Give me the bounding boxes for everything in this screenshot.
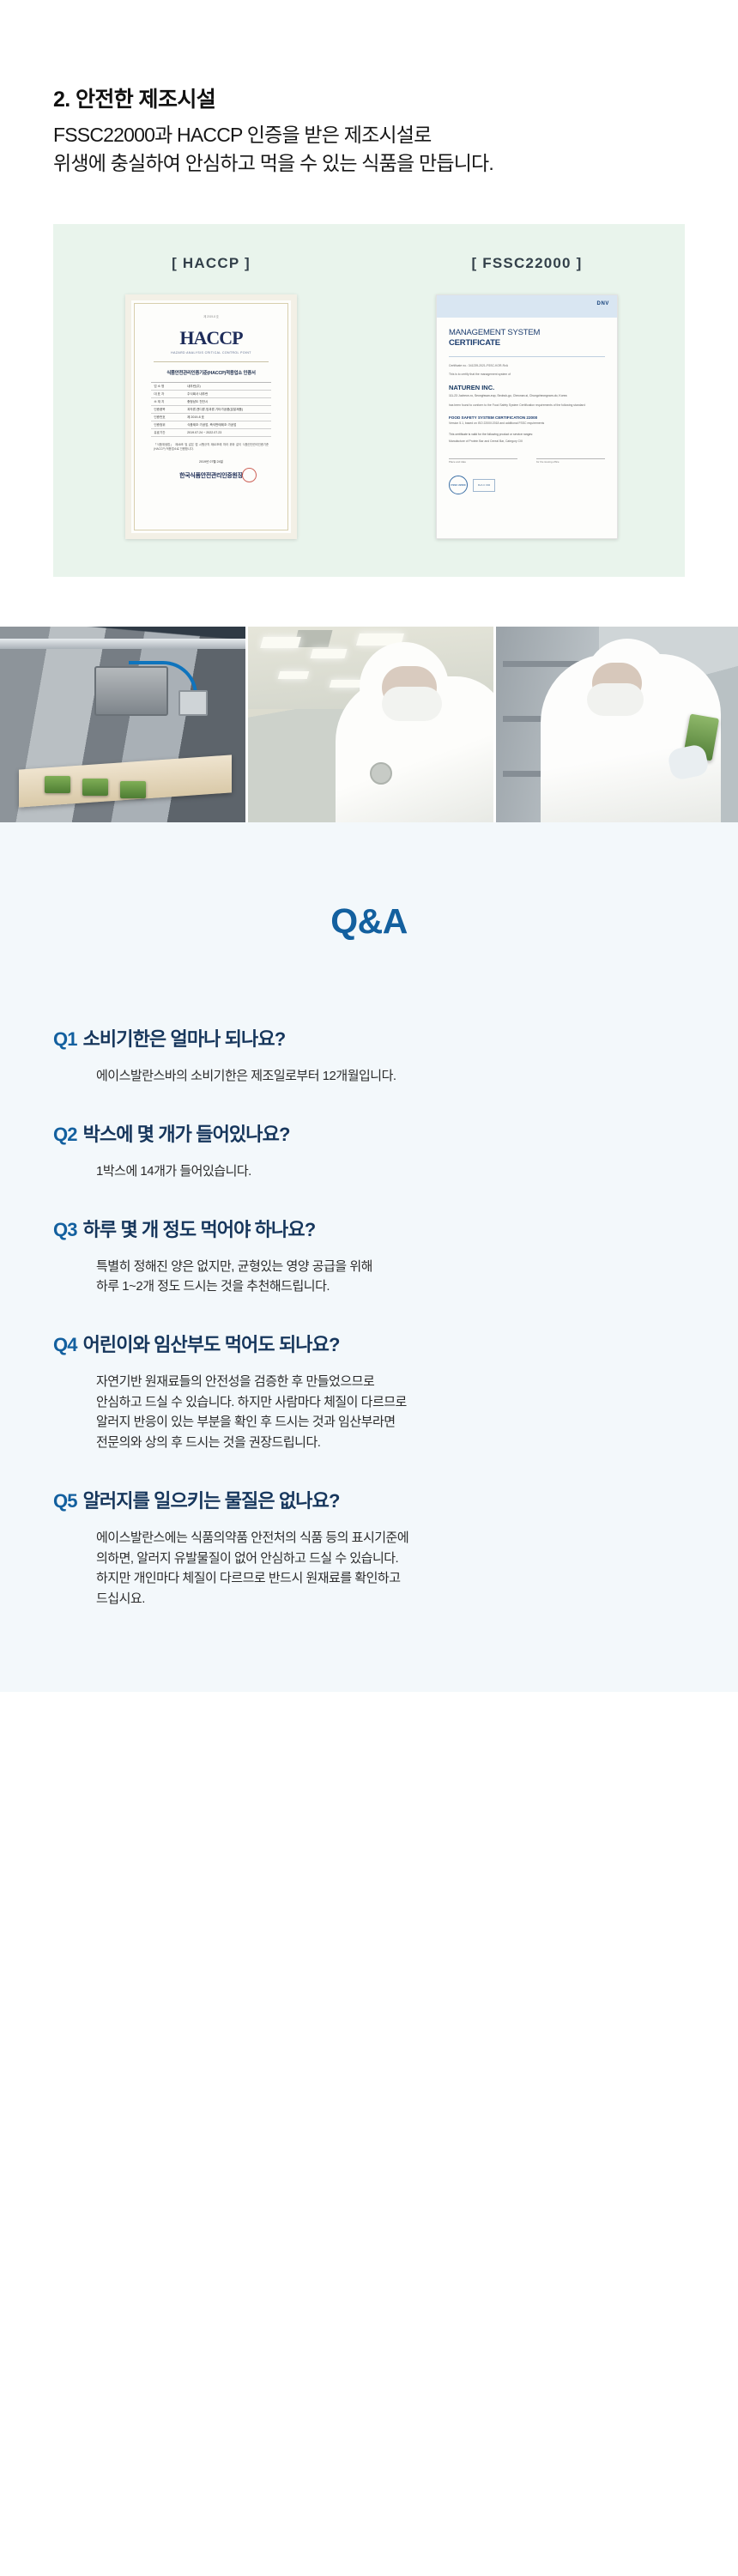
row-value: 식품제조·가공업, 즉석판매제조·가공업 — [187, 423, 271, 427]
worker-mask — [382, 687, 442, 721]
qa-answer: 에이스발란스에는 식품의약품 안전처의 식품 등의 표시기준에 의하면, 알러지… — [53, 1528, 685, 1609]
intro-section: 2. 안전한 제조시설 FSSC22000과 HACCP 인증을 받은 제조시설… — [0, 0, 738, 177]
qa-section: Q&A Q1소비기한은 얼마나 되나요? 에이스발란스바의 소비기한은 제조일로… — [0, 822, 738, 1691]
qa-item: Q1소비기한은 얼마나 되나요? 에이스발란스바의 소비기한은 제조일로부터 1… — [53, 1024, 685, 1087]
ceiling-light — [278, 671, 310, 679]
fssc-heading-line-2: CERTIFICATE — [449, 338, 500, 348]
table-row: 인증번호 제 2019-8 호 — [151, 414, 270, 421]
qa-question: Q5알러지를 일으키는 물질은 없나요? — [53, 1486, 685, 1513]
fssc-certificate-image: DNV MANAGEMENT SYSTEM CERTIFICATE Certif… — [436, 294, 618, 539]
intro-body-line-2: 위생에 충실하여 안심하고 먹을 수 있는 식품을 만듭니다. — [53, 152, 493, 174]
machine-motor — [178, 690, 208, 716]
fssc-intro-text: This is to certify that the management s… — [449, 373, 605, 377]
product-pack — [45, 776, 70, 793]
signature-left-label: Place and date — [449, 460, 517, 464]
row-key: 인증번호 — [151, 415, 187, 420]
divider — [154, 361, 269, 362]
haccp-note: 「식품위생법」 제48조 및 같은 법 시행규칙 제62조에 따라 위와 같이 … — [154, 443, 269, 452]
haccp-title: 식품안전관리인증기준(HACCP)적용업소 인증서 — [142, 369, 281, 376]
fssc-conformance-text: has been found to conform to the Food Sa… — [449, 403, 605, 408]
row-key: 유효기간 — [151, 431, 187, 435]
qa-answer: 자연기반 원재료들의 안전성을 검증한 후 만들었으므로 안심하고 드실 수 있… — [53, 1372, 685, 1453]
row-key: 소 재 지 — [151, 400, 187, 404]
fssc-certificate-card: [ FSSC22000 ] DNV MANAGEMENT SYSTEM CERT… — [378, 255, 675, 539]
fssc-heading-line-1: MANAGEMENT SYSTEM — [449, 328, 540, 337]
fssc-company-name: NATUREN INC. — [449, 384, 605, 391]
qa-question-number: Q4 — [53, 1334, 77, 1355]
haccp-certificate-card: [ HACCP ] 제 2019-8 호 HACCP HAZARD ANALYS… — [63, 255, 360, 539]
factory-photo-strip — [0, 627, 738, 822]
qa-question-text: 하루 몇 개 정도 먹어야 하나요? — [83, 1219, 316, 1240]
qa-answer: 에이스발란스바의 소비기한은 제조일로부터 12개월입니다. — [53, 1066, 685, 1087]
qa-question-number: Q3 — [53, 1219, 77, 1240]
qa-item: Q3하루 몇 개 정도 먹어야 하나요? 특별히 정해진 양은 없지만, 균형있… — [53, 1215, 685, 1297]
row-value: 충청남도 천안시 — [187, 400, 271, 404]
haccp-logo: HACCP — [142, 327, 281, 349]
qa-question-number: Q5 — [53, 1490, 77, 1512]
table-row: 유효기간 2019.07.24 ~ 2022.07.23 — [151, 429, 270, 437]
official-seal-icon — [242, 468, 257, 482]
worker-mask — [587, 683, 644, 716]
qa-question: Q2박스에 몇 개가 들어있나요? — [53, 1119, 685, 1147]
table-row: 대 표 자 주식회사 내추런 — [151, 391, 270, 398]
haccp-certificate-image: 제 2019-8 호 HACCP HAZARD ANALYSIS CRITICA… — [125, 294, 297, 539]
fssc-signature-area: Place and date for the issuing office — [449, 458, 605, 464]
signature-left: Place and date — [449, 458, 517, 464]
qa-question-number: Q1 — [53, 1028, 77, 1050]
qa-answer: 특별히 정해진 양은 없지만, 균형있는 영양 공급을 위해 하루 1~2개 정… — [53, 1257, 685, 1297]
divider — [536, 458, 605, 459]
qa-question: Q4어린이와 임산부도 먹어도 되나요? — [53, 1330, 685, 1357]
photo-cleanroom-worker — [248, 627, 493, 822]
row-key: 인증범위 — [151, 423, 187, 427]
qa-question-text: 박스에 몇 개가 들어있나요? — [83, 1124, 290, 1145]
qa-heading: Q&A — [0, 901, 738, 942]
fssc-company-address: 111-23 Jucheon-ro, Seonghwan-eup, Seobuk… — [449, 394, 605, 398]
page-title: 2. 안전한 제조시설 — [53, 82, 738, 113]
rva-badge-icon: RvA C 002 — [473, 479, 495, 492]
fssc-heading: MANAGEMENT SYSTEM CERTIFICATE — [449, 328, 605, 349]
row-value: 제 2019-8 호 — [187, 415, 271, 420]
table-row: 인증범위 식품제조·가공업, 즉석판매제조·가공업 — [151, 421, 270, 429]
intro-body-line-1: FSSC22000과 HACCP 인증을 받은 제조시설로 — [53, 124, 432, 146]
divider — [449, 356, 605, 357]
table-row: 인증품목 과자류,캔디류,빙과류,기타가공품(분말제품) — [151, 406, 270, 414]
divider — [449, 458, 517, 459]
product-pack — [120, 781, 146, 798]
row-value: 주식회사 내추런 — [187, 392, 271, 397]
qa-item: Q5알러지를 일으키는 물질은 없나요? 에이스발란스에는 식품의약품 안전처의… — [53, 1486, 685, 1609]
machine-rail — [0, 639, 245, 649]
row-key: 대 표 자 — [151, 392, 187, 397]
row-value: 2019.07.24 ~ 2022.07.23 — [187, 431, 271, 434]
fssc-standard-line-2: Version 5.1, based on ISO 22000:2018 and… — [449, 421, 605, 426]
row-value: 내추런(주) — [187, 385, 271, 389]
table-row: 업 소 명 내추런(주) — [151, 383, 270, 391]
fssc-badge-icon: FSSC 22000 — [449, 476, 468, 494]
intro-body: FSSC22000과 HACCP 인증을 받은 제조시설로 위생에 충실하여 안… — [53, 121, 738, 177]
row-value: 과자류,캔디류,빙과류,기타가공품(분말제품) — [187, 408, 271, 412]
photo-product-inspection — [496, 627, 738, 822]
ceiling-light — [310, 649, 347, 658]
qa-answer: 1박스에 14개가 들어있습니다. — [53, 1161, 685, 1182]
fssc-cert-number: Certificate no.: 341239-2021-FSSC-KOR-Rv… — [449, 364, 605, 368]
row-key: 인증품목 — [151, 408, 187, 412]
ceiling-light — [330, 680, 363, 688]
haccp-doc-number: 제 2019-8 호 — [142, 314, 281, 318]
photo-packaging-line — [0, 627, 245, 822]
fssc-accreditation-badges: FSSC 22000 RvA C 002 — [449, 476, 605, 494]
qa-item: Q2박스에 몇 개가 들어있나요? 1박스에 14개가 들어있습니다. — [53, 1119, 685, 1182]
signature-right: for the issuing office — [536, 458, 605, 464]
signature-right-label: for the issuing office — [536, 460, 605, 464]
fssc-header-bar: DNV — [437, 295, 617, 318]
qa-question-text: 알러지를 일으키는 물질은 없나요? — [83, 1490, 340, 1512]
ceiling-light — [260, 637, 301, 648]
haccp-issue-date: 2019년 07월 24일 — [142, 460, 281, 464]
row-key: 업 소 명 — [151, 385, 187, 389]
haccp-label: [ HACCP ] — [172, 255, 251, 272]
qa-question-text: 소비기한은 얼마나 되나요? — [83, 1028, 286, 1050]
fssc-standard-line-1: FOOD SAFETY SYSTEM CERTIFICATION 22000 — [449, 415, 605, 421]
product-pack — [82, 779, 108, 796]
qa-list: Q1소비기한은 얼마나 되나요? 에이스발란스바의 소비기한은 제조일로부터 1… — [0, 1024, 738, 1609]
qa-item: Q4어린이와 임산부도 먹어도 되나요? 자연기반 원재료들의 안전성을 검증한… — [53, 1330, 685, 1453]
haccp-detail-table: 업 소 명 내추런(주) 대 표 자 주식회사 내추런 소 재 지 충청남도 천… — [151, 382, 270, 437]
qa-question-text: 어린이와 임산부도 먹어도 되나요? — [83, 1334, 340, 1355]
fssc-label: [ FSSC22000 ] — [472, 255, 583, 272]
qa-question-number: Q2 — [53, 1124, 77, 1145]
fssc-scope-text: Manufacture of Protein Bar and Cereal Ba… — [449, 439, 605, 444]
table-row: 소 재 지 충청남도 천안시 — [151, 398, 270, 406]
fssc-scope-label: This certificate is valid for the follow… — [449, 433, 605, 437]
dnv-logo: DNV — [597, 301, 609, 306]
qa-question: Q3하루 몇 개 정도 먹어야 하나요? — [53, 1215, 685, 1242]
haccp-logo-subtitle: HAZARD ANALYSIS CRITICAL CONTROL POINT — [142, 351, 281, 355]
qa-question: Q1소비기한은 얼마나 되나요? — [53, 1024, 685, 1052]
haccp-issuer: 한국식품안전관리인증원장 — [142, 471, 281, 480]
haccp-issuer-text: 한국식품안전관리인증원장 — [179, 473, 243, 479]
certificates-section: [ HACCP ] 제 2019-8 호 HACCP HAZARD ANALYS… — [53, 224, 685, 577]
